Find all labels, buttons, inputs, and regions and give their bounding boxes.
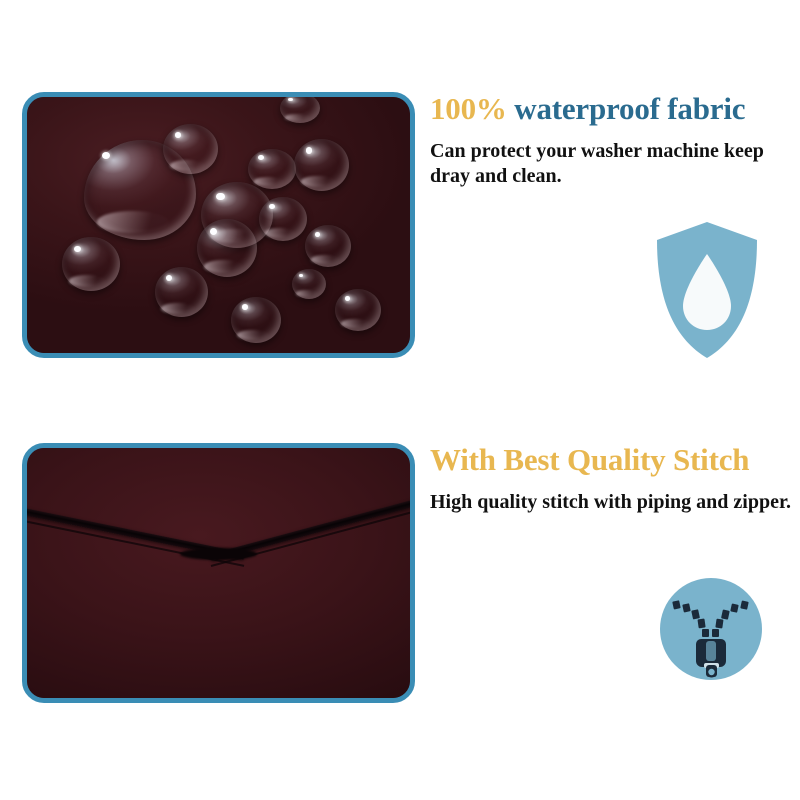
water-droplet bbox=[155, 267, 208, 317]
product-photo-stitch bbox=[22, 443, 415, 703]
feature-text-stitch: With Best Quality Stitch High quality st… bbox=[430, 443, 795, 515]
seam-valley bbox=[180, 548, 257, 560]
feature-title: With Best Quality Stitch bbox=[430, 443, 795, 478]
shield-droplet-icon bbox=[653, 220, 761, 360]
water-droplet bbox=[292, 269, 326, 299]
feature-title-accent: With Best Quality Stitch bbox=[430, 442, 749, 477]
feature-title-accent: 100% bbox=[430, 91, 507, 126]
feature-description: Can protect your washer machine keep dra… bbox=[430, 139, 795, 190]
photo-inner bbox=[27, 448, 410, 698]
water-droplet bbox=[294, 139, 349, 191]
zipper-slider bbox=[696, 639, 726, 668]
water-droplet bbox=[163, 124, 218, 174]
water-droplet bbox=[197, 219, 257, 277]
water-droplet bbox=[231, 297, 281, 343]
water-droplet bbox=[305, 225, 351, 267]
water-droplet bbox=[62, 237, 120, 291]
feature-title-main: waterproof fabric bbox=[514, 91, 745, 126]
zipper-pull bbox=[706, 665, 717, 678]
water-droplet bbox=[259, 197, 307, 241]
feature-description: High quality stitch with piping and zipp… bbox=[430, 490, 795, 516]
zipper-icon bbox=[659, 577, 763, 681]
photo-inner bbox=[27, 97, 410, 353]
water-droplet bbox=[335, 289, 381, 331]
feature-text-waterproof: 100% waterproof fabric Can protect your … bbox=[430, 92, 795, 190]
water-droplet bbox=[248, 149, 296, 189]
feature-title: 100% waterproof fabric bbox=[430, 92, 795, 127]
stitch-seam bbox=[27, 448, 410, 698]
product-photo-waterproof bbox=[22, 92, 415, 358]
